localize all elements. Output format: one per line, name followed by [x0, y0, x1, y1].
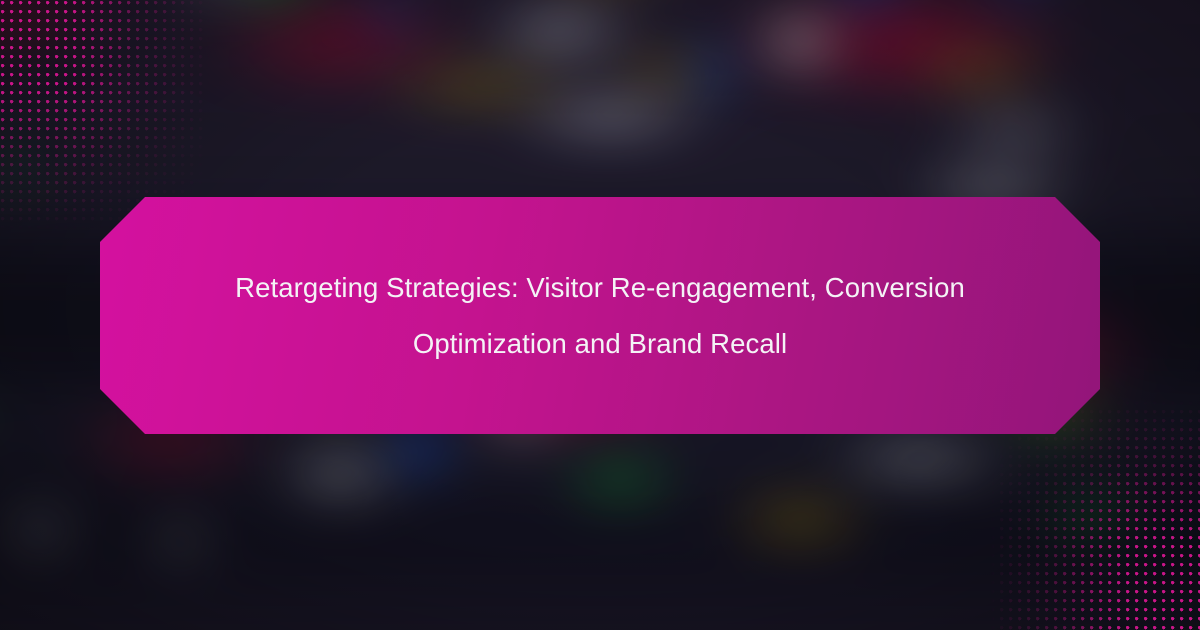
halftone-dots-bottom-right-icon — [990, 400, 1200, 630]
page-title: Retargeting Strategies: Visitor Re-engag… — [205, 260, 995, 372]
social-share-card: Retargeting Strategies: Visitor Re-engag… — [0, 0, 1200, 630]
title-banner: Retargeting Strategies: Visitor Re-engag… — [100, 197, 1100, 434]
halftone-dots-top-left-icon — [0, 0, 210, 230]
